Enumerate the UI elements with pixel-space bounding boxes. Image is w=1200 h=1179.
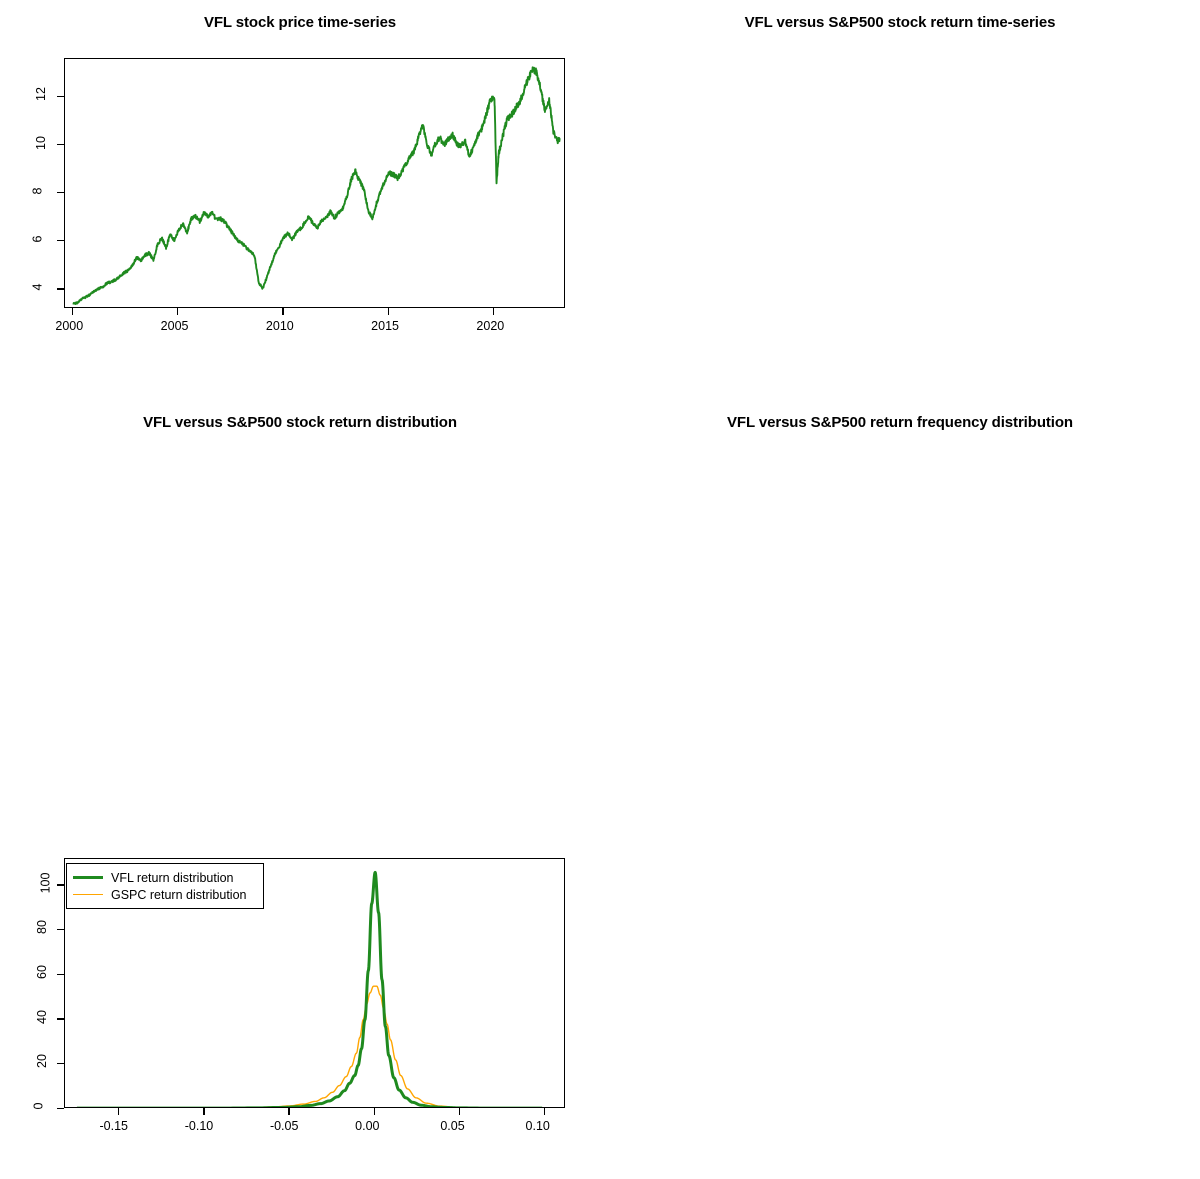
axis-tick xyxy=(57,288,64,289)
panel-return-density: VFL versus S&P500 stock return distribut… xyxy=(0,400,600,800)
axis-tick-label: 0.10 xyxy=(526,1119,550,1133)
panel-return-series: VFL versus S&P500 stock return time-seri… xyxy=(600,0,1200,400)
axis-tick xyxy=(57,192,64,193)
axis-tick xyxy=(57,929,64,930)
axis-tick xyxy=(118,1108,119,1115)
axis-tick-label: 2015 xyxy=(371,319,399,333)
panel-title-price-series: VFL stock price time-series xyxy=(0,14,600,31)
legend-label: GSPC return distribution xyxy=(111,888,246,902)
plot-area-price-series xyxy=(64,58,565,308)
axis-tick-label: 6 xyxy=(30,235,44,242)
axis-tick xyxy=(388,308,389,315)
axis-tick-label: 0.05 xyxy=(440,1119,464,1133)
axis-tick xyxy=(203,1108,204,1115)
axis-tick xyxy=(282,308,283,315)
figure-grid: VFL stock price time-series 468101220002… xyxy=(0,0,1200,800)
axis-tick-label: 4 xyxy=(30,283,44,290)
axis-tick xyxy=(374,1108,375,1115)
axis-tick-label: 0.00 xyxy=(355,1119,379,1133)
axis-tick-label: 2010 xyxy=(266,319,294,333)
axis-tick-label: 12 xyxy=(34,88,48,102)
axis-tick-label: 80 xyxy=(35,920,49,934)
legend-return-density[interactable]: VFL return distribution GSPC return dist… xyxy=(66,863,264,909)
axis-tick xyxy=(57,884,64,885)
legend-line-key-gspc xyxy=(73,894,103,895)
panel-title-return-histogram: VFL versus S&P500 return frequency distr… xyxy=(600,414,1200,431)
panel-title-return-series: VFL versus S&P500 stock return time-seri… xyxy=(600,14,1200,31)
axis-tick-label: -0.15 xyxy=(100,1119,129,1133)
axis-tick-label: -0.10 xyxy=(185,1119,214,1133)
axis-tick xyxy=(57,1018,64,1019)
legend-label: VFL return distribution xyxy=(111,871,234,885)
axis-tick xyxy=(177,308,178,315)
axis-tick xyxy=(57,240,64,241)
axis-tick-label: 40 xyxy=(35,1010,49,1024)
price-line-svg xyxy=(65,59,565,308)
axis-tick xyxy=(57,144,64,145)
axis-tick xyxy=(72,308,73,315)
axis-tick xyxy=(544,1108,545,1115)
axis-tick-label: 0 xyxy=(31,1103,45,1110)
axis-tick-label: 10 xyxy=(34,136,48,150)
legend-item: GSPC return distribution xyxy=(73,886,256,903)
panel-title-return-density: VFL versus S&P500 stock return distribut… xyxy=(0,414,600,431)
axis-tick-label: 100 xyxy=(38,872,52,893)
axis-tick xyxy=(57,974,64,975)
axis-tick xyxy=(493,308,494,315)
axis-tick xyxy=(57,96,64,97)
panel-return-histogram: VFL versus S&P500 return frequency distr… xyxy=(600,400,1200,800)
axis-tick-label: 20 xyxy=(35,1054,49,1068)
legend-line-key-vfl xyxy=(73,876,103,879)
axis-tick xyxy=(57,1063,64,1064)
legend-item: VFL return distribution xyxy=(73,869,256,886)
panel-price-series: VFL stock price time-series 468101220002… xyxy=(0,0,600,400)
axis-tick xyxy=(459,1108,460,1115)
axis-tick xyxy=(57,1108,64,1109)
axis-tick-label: 2020 xyxy=(476,319,504,333)
axis-tick-label: 8 xyxy=(30,187,44,194)
axis-tick-label: 60 xyxy=(35,965,49,979)
axis-tick xyxy=(288,1108,289,1115)
axis-tick-label: 2000 xyxy=(55,319,83,333)
axis-tick-label: -0.05 xyxy=(270,1119,299,1133)
axis-tick-label: 2005 xyxy=(161,319,189,333)
